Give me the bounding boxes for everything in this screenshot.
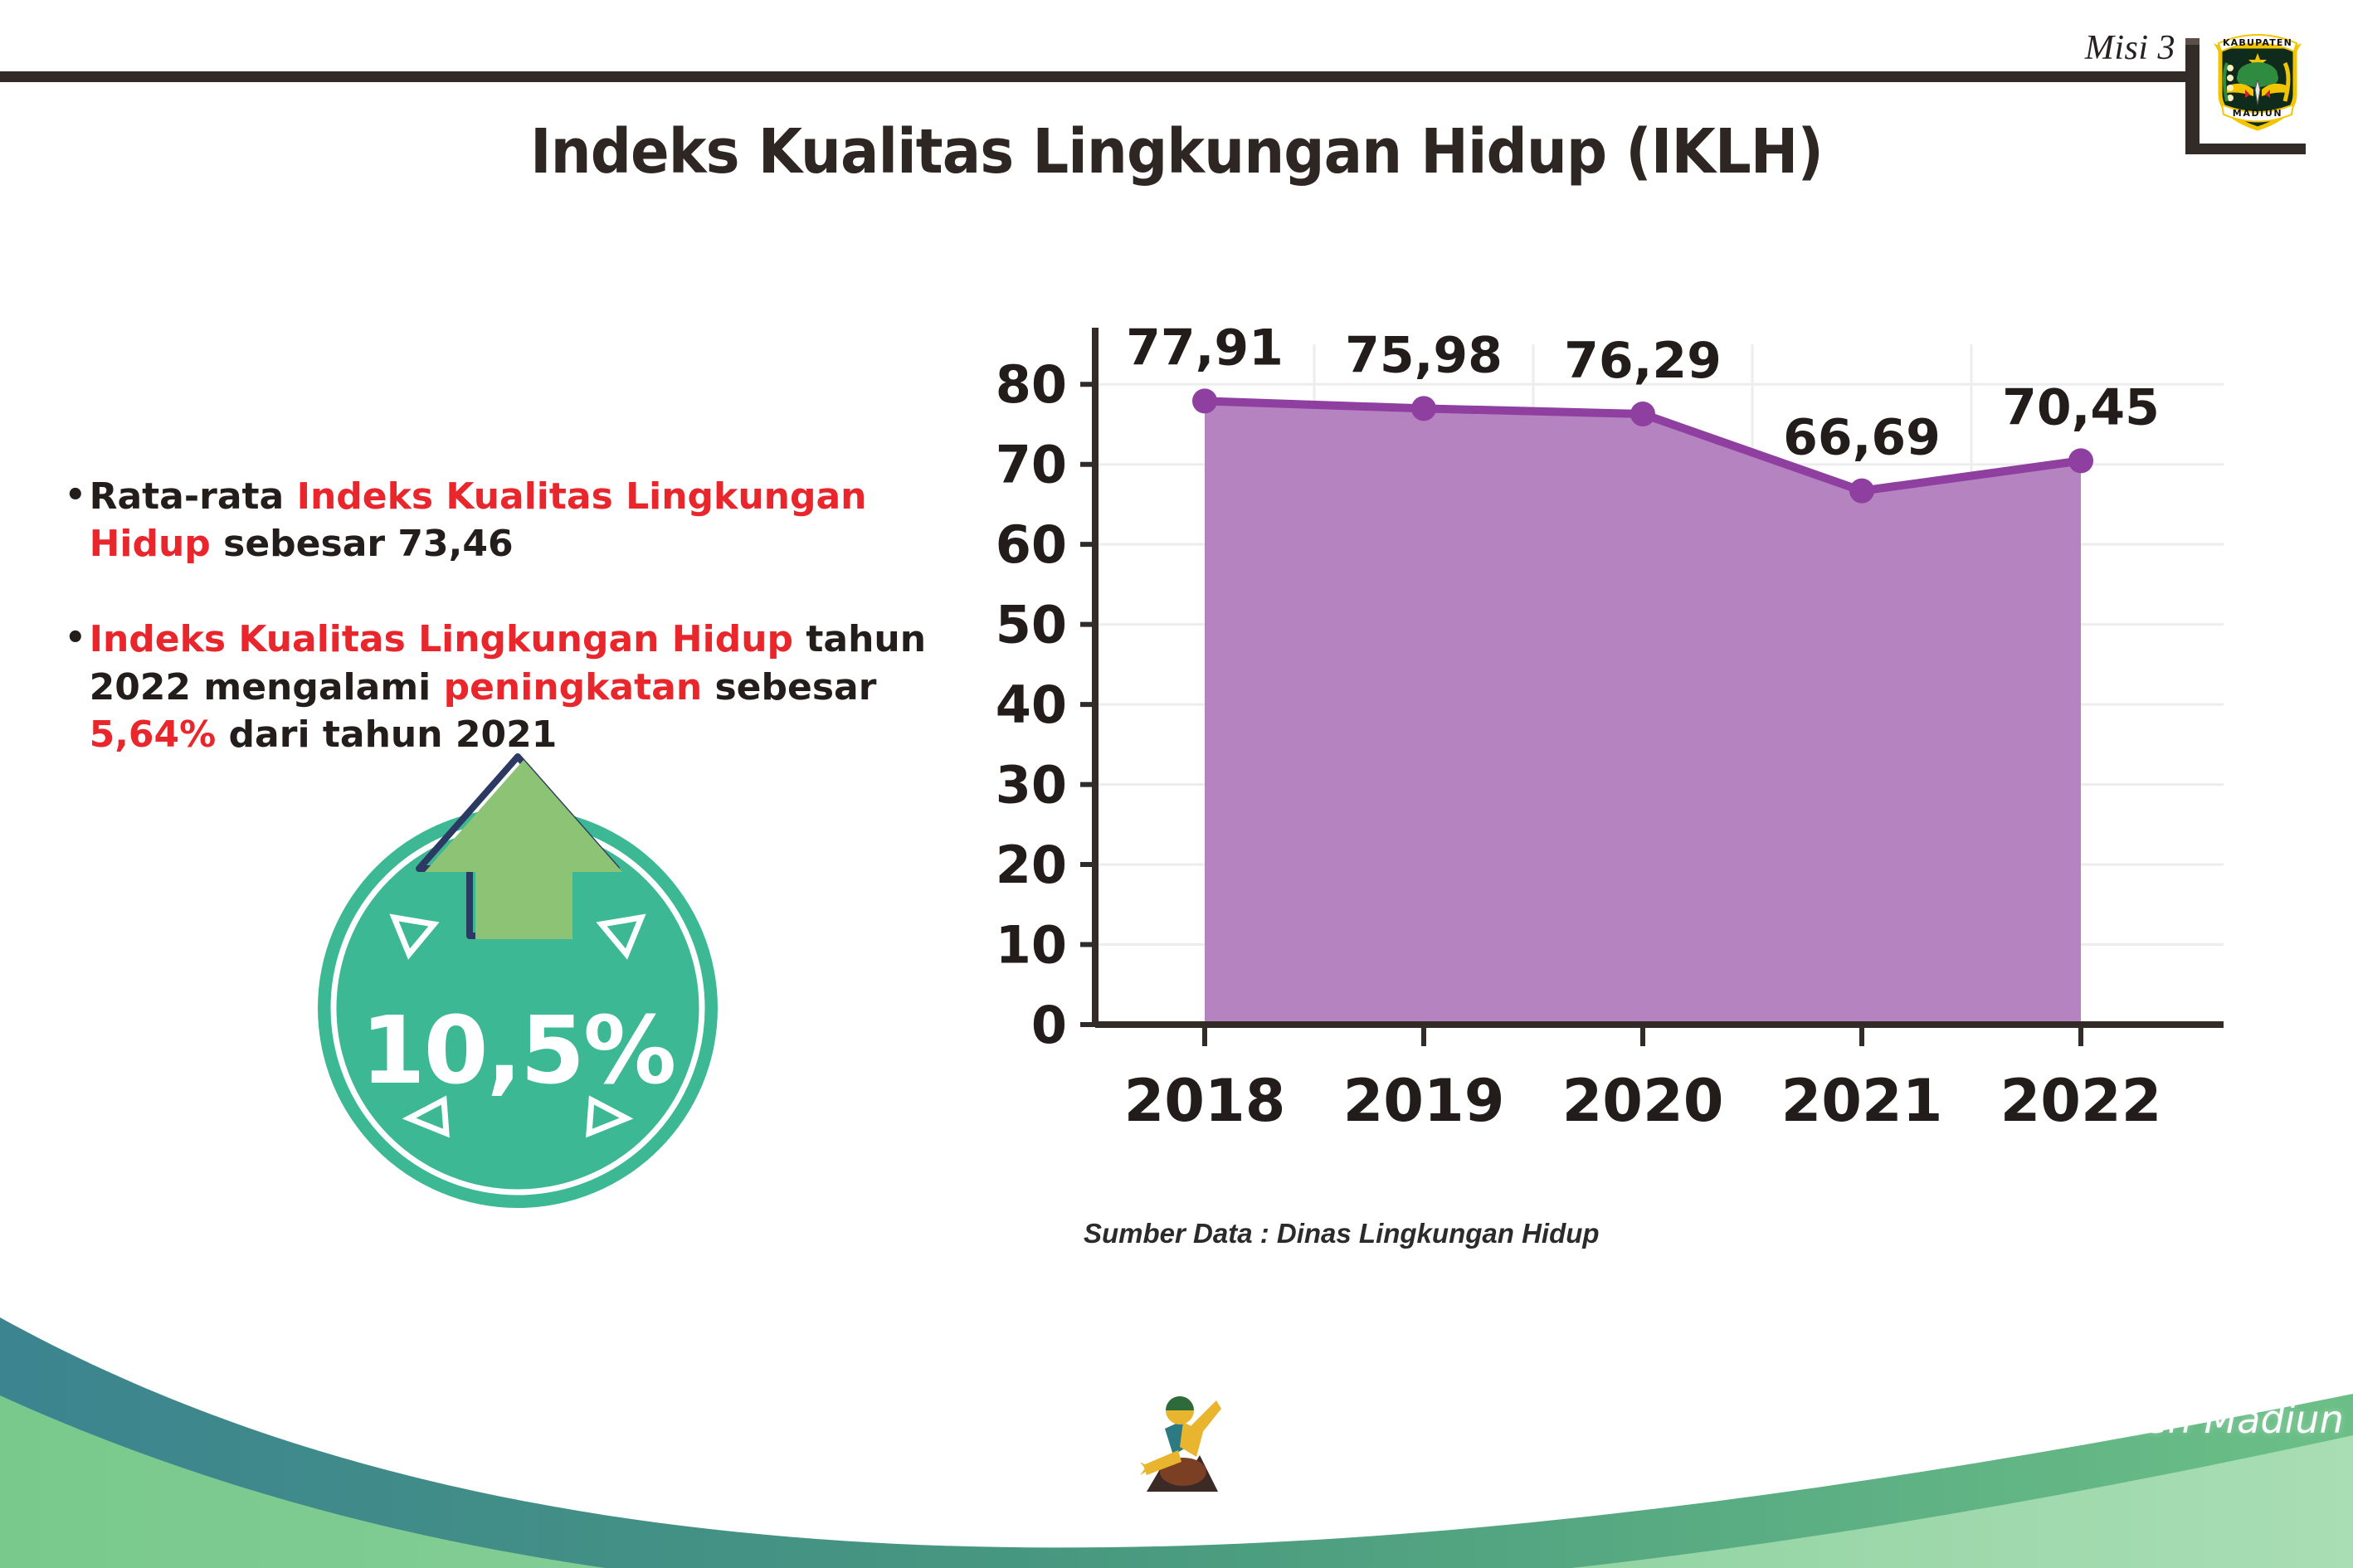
logo-top-text: KABUPATEN xyxy=(2223,37,2292,48)
data-point-marker xyxy=(1630,402,1655,426)
bullet-plain: sebesar 73,46 xyxy=(211,523,514,565)
y-axis-tick-label: 10 xyxy=(996,915,1067,976)
bullet-plain: Rata-rata xyxy=(90,475,297,518)
x-axis-tick-label: 2018 xyxy=(1124,1067,1286,1135)
bullet-highlight: 5,64% xyxy=(90,713,217,756)
data-point-label: 75,98 xyxy=(1345,326,1503,384)
bullet-highlight: peningkatan xyxy=(444,666,703,709)
data-point-marker xyxy=(1192,388,1217,413)
bullet-text: Rata-rata Indeks Kualitas Lingkungan Hid… xyxy=(90,473,952,567)
data-point-label: 70,45 xyxy=(2002,378,2160,436)
data-point-marker xyxy=(1411,396,1436,421)
bullet-marker: • xyxy=(65,616,90,758)
page-title: Indeks Kualitas Lingkungan Hidup (IKLH) xyxy=(82,116,2270,187)
y-axis-tick-label: 30 xyxy=(996,755,1067,816)
badge-value: 10,5% xyxy=(318,997,718,1105)
bullet-marker: • xyxy=(65,473,90,567)
x-axis-tick-label: 2020 xyxy=(1562,1067,1724,1135)
data-point-label: 77,91 xyxy=(1126,319,1284,377)
bullet-text: Indeks Kualitas Lingkungan Hidup tahun 2… xyxy=(90,616,952,758)
x-axis-tick-label: 2019 xyxy=(1343,1067,1505,1135)
area-fill xyxy=(1205,401,2081,1025)
data-point-marker xyxy=(2068,448,2093,473)
bullet-item: •Rata-rata Indeks Kualitas Lingkungan Hi… xyxy=(65,473,952,567)
y-axis-tick-label: 70 xyxy=(996,435,1067,495)
footer-caption: Media Infografis Data Statistik Sektoral… xyxy=(1226,1397,2353,1487)
y-axis-tick-label: 50 xyxy=(996,595,1067,655)
data-point-label: 66,69 xyxy=(1783,409,1941,467)
y-axis-tick-label: 20 xyxy=(996,835,1067,895)
header-rule xyxy=(0,71,2195,82)
y-axis-tick-label: 80 xyxy=(996,354,1067,415)
increase-badge: 10,5% xyxy=(318,747,749,1215)
infographic-slide: Misi 3 xyxy=(0,0,2353,1568)
x-axis-tick-label: 2022 xyxy=(2000,1067,2162,1135)
y-axis-tick-label: 60 xyxy=(996,514,1067,575)
mission-label: Misi 3 xyxy=(2085,28,2175,68)
y-axis-tick-label: 0 xyxy=(1031,995,1067,1055)
bullet-highlight: Indeks Kualitas Lingkungan Hidup xyxy=(90,618,793,660)
y-axis-tick-label: 40 xyxy=(996,674,1067,735)
iklh-area-chart: 77,9175,9876,2966,6970,45010203040506070… xyxy=(962,295,2290,1191)
data-point-label: 76,29 xyxy=(1564,332,1722,390)
statistik-dancer-icon xyxy=(1135,1385,1226,1510)
x-axis-tick-label: 2021 xyxy=(1781,1067,1943,1135)
bullet-plain: sebesar xyxy=(702,666,876,709)
data-point-marker xyxy=(1849,479,1874,504)
bullet-item: •Indeks Kualitas Lingkungan Hidup tahun … xyxy=(65,616,952,758)
source-note: Sumber Data : Dinas Lingkungan Hidup xyxy=(1084,1218,1600,1249)
